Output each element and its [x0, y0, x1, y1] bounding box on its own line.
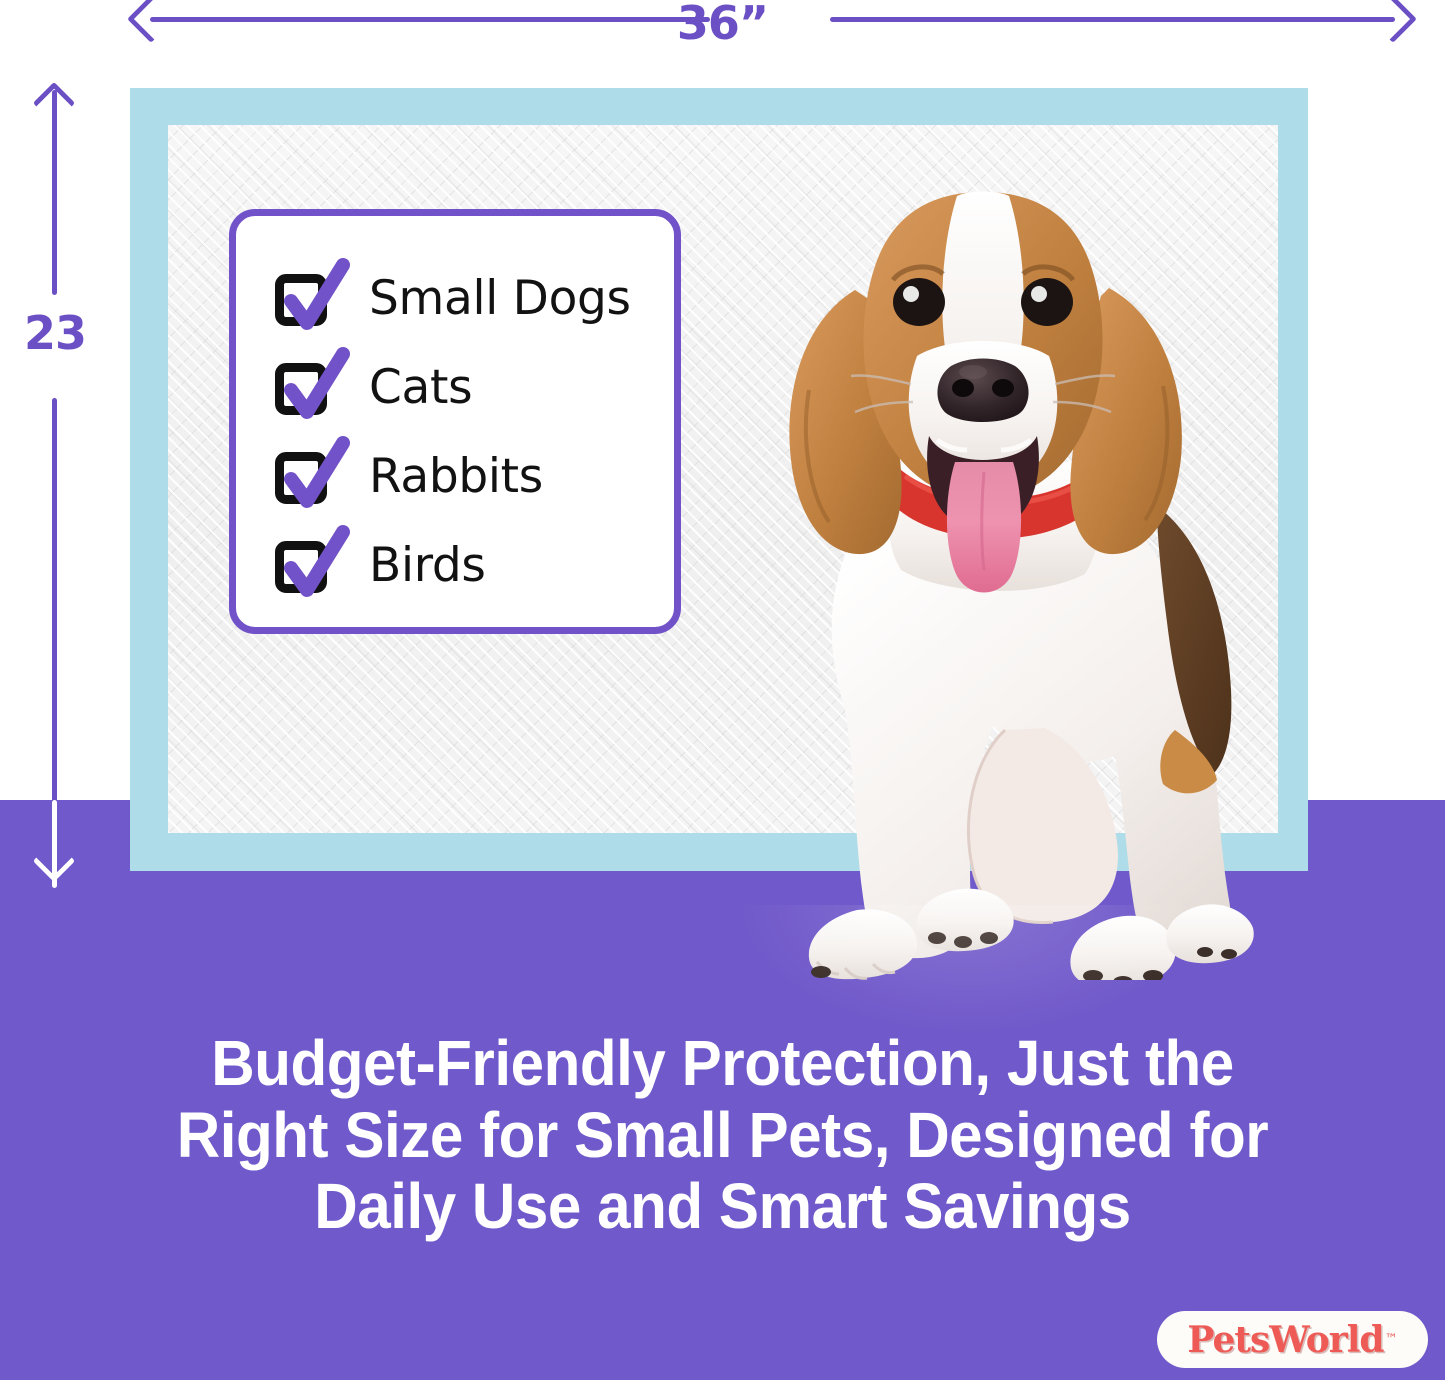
list-item-label: Cats	[369, 364, 472, 411]
list-item[interactable]: Cats	[236, 343, 674, 432]
checkbox-checked-icon[interactable]	[275, 448, 333, 506]
dimension-line	[52, 398, 57, 808]
tagline-line: Right Size for Small Pets, Designed for	[109, 1100, 1336, 1172]
list-item-label: Small Dogs	[369, 275, 631, 322]
suitable-pets-checklist: Small Dogs Cats Rabbits	[229, 209, 681, 634]
checkbox-checked-icon[interactable]	[275, 537, 333, 595]
marketing-tagline: Budget-Friendly Protection, Just the Rig…	[109, 1028, 1336, 1243]
list-item-label: Rabbits	[369, 453, 543, 500]
arrow-down-icon	[33, 840, 75, 882]
checkbox-checked-icon[interactable]	[275, 270, 333, 328]
beagle-dog-photo	[705, 170, 1265, 980]
tagline-line: Daily Use and Smart Savings	[109, 1171, 1336, 1243]
width-dimension-indicator: 36”	[0, 0, 1445, 60]
list-item[interactable]: Birds	[236, 521, 674, 610]
height-label: 23	[0, 306, 110, 360]
list-item-label: Birds	[369, 542, 486, 589]
checkbox-checked-icon[interactable]	[275, 359, 333, 417]
petsworld-logo: PetsWorld™	[1157, 1311, 1428, 1368]
dimension-line	[52, 90, 57, 295]
width-label: 36”	[0, 0, 1445, 50]
list-item[interactable]: Rabbits	[236, 432, 674, 521]
product-marketing-image: Small Dogs Cats Rabbits	[0, 0, 1445, 1380]
brand-name: PetsWorld	[1187, 1322, 1383, 1358]
height-dimension-indicator: 23	[0, 78, 110, 888]
trademark-symbol: ™	[1385, 1332, 1398, 1347]
list-item[interactable]: Small Dogs	[236, 254, 674, 343]
tagline-line: Budget-Friendly Protection, Just the	[109, 1028, 1336, 1100]
